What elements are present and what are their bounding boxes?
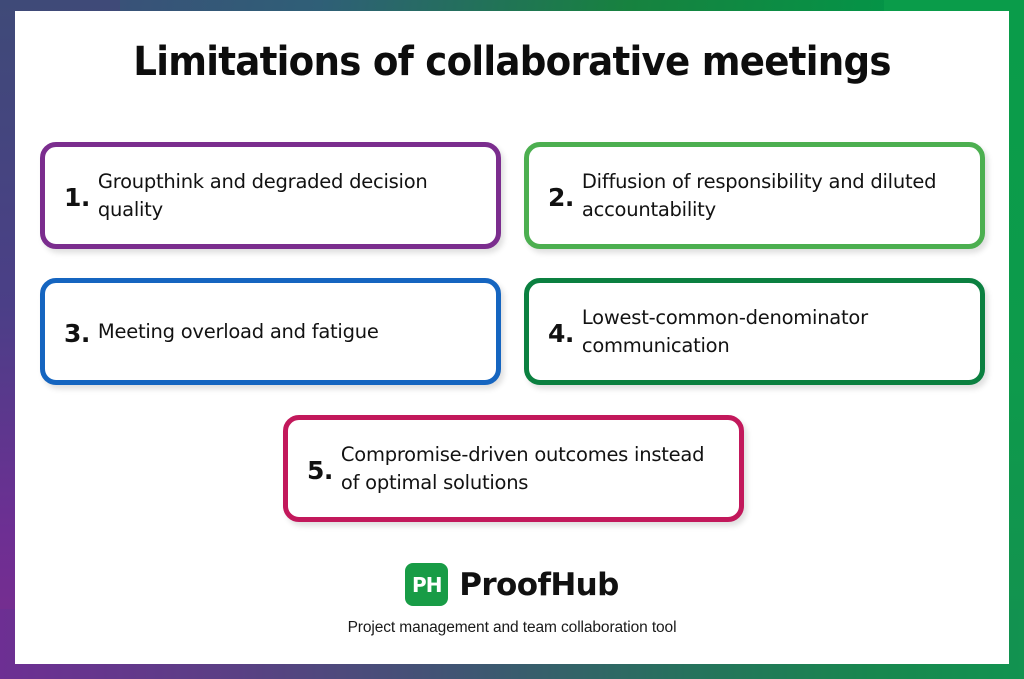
limitation-text-4: Lowest-common-denominator communication <box>582 304 980 359</box>
limitation-number-3: 3. <box>45 321 98 346</box>
limitation-text-2: Diffusion of responsibility and diluted … <box>582 168 980 223</box>
limitation-card-2: 2. Diffusion of responsibility and dilut… <box>524 142 985 249</box>
limitation-number-4: 4. <box>529 321 582 346</box>
proofhub-logo-icon: PH <box>405 563 448 606</box>
limitation-card-3: 3. Meeting overload and fatigue <box>40 278 501 385</box>
limitation-card-4: 4. Lowest-common-denominator communicati… <box>524 278 985 385</box>
limitation-card-5: 5. Compromise-driven outcomes instead of… <box>283 415 744 522</box>
limitation-text-5: Compromise-driven outcomes instead of op… <box>341 441 739 496</box>
brand-name: ProofHub <box>459 567 619 603</box>
brand-footer: PH ProofHub Project management and team … <box>15 563 1009 637</box>
limitation-number-5: 5. <box>288 458 341 483</box>
brand-logo-row: PH ProofHub <box>405 563 619 606</box>
content-canvas: Limitations of collaborative meetings 1.… <box>15 11 1009 664</box>
limitation-number-2: 2. <box>529 185 582 210</box>
limitation-text-3: Meeting overload and fatigue <box>98 318 496 346</box>
brand-tagline: Project management and team collaboratio… <box>348 619 677 637</box>
limitation-card-1: 1. Groupthink and degraded decision qual… <box>40 142 501 249</box>
infographic-frame: Limitations of collaborative meetings 1.… <box>0 0 1024 679</box>
limitation-number-1: 1. <box>45 185 98 210</box>
limitation-text-1: Groupthink and degraded decision quality <box>98 168 496 223</box>
